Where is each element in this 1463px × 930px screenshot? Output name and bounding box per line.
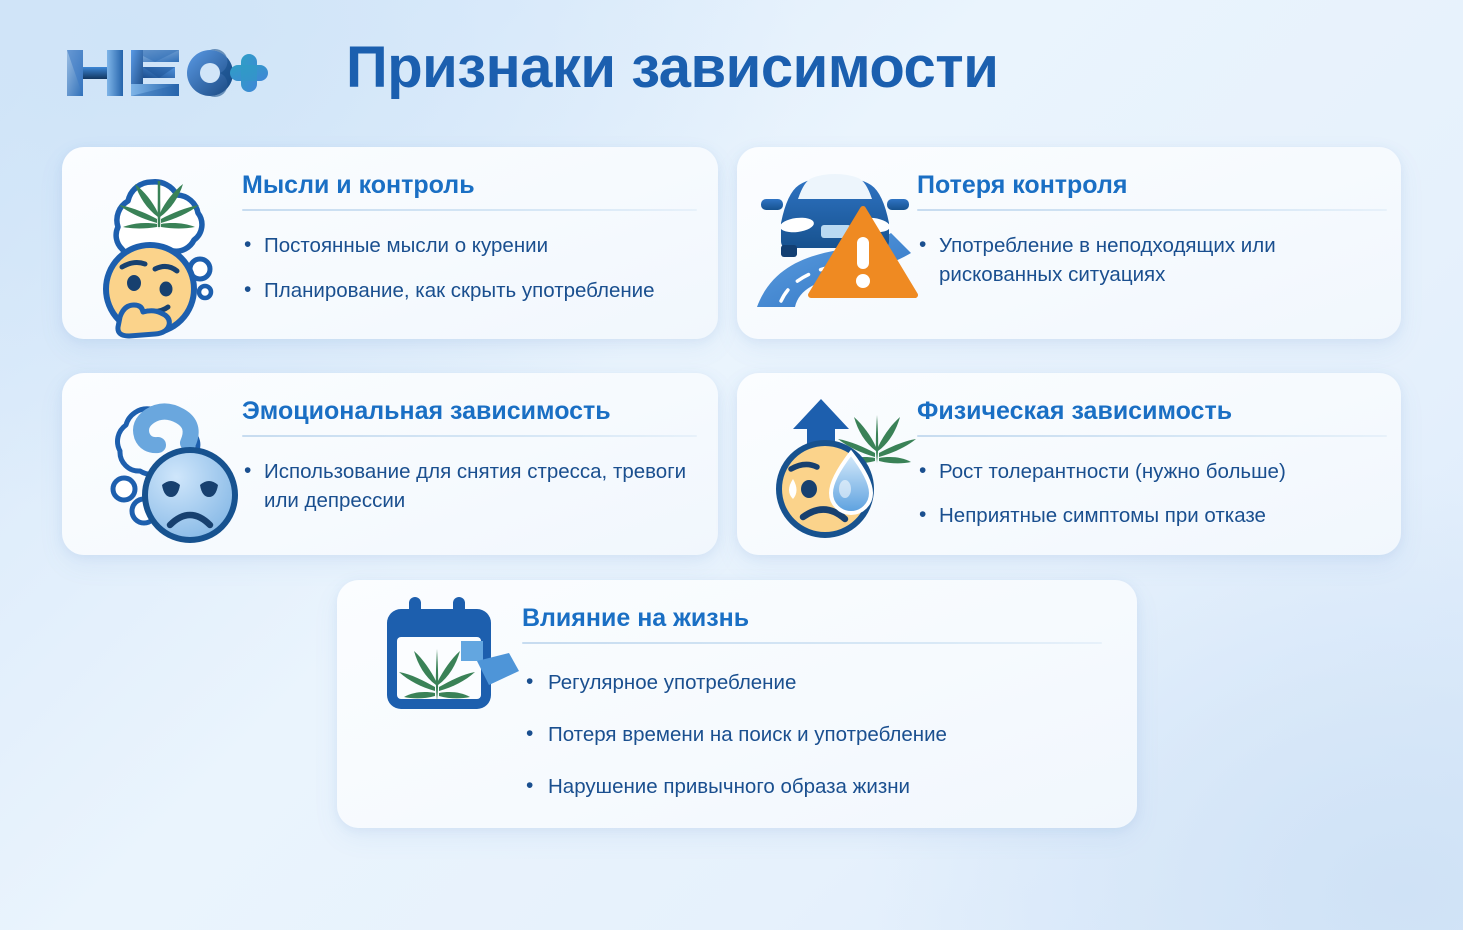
heading-divider (522, 642, 1102, 644)
bullet-list: Постоянные мысли о курении Планирование,… (242, 231, 697, 305)
card-heading: Эмоциональная зависимость (242, 397, 697, 426)
list-item: Планирование, как скрыть употребление (242, 276, 697, 305)
list-item: Рост толерантности (нужно больше) (917, 457, 1387, 486)
card-thoughts-body: Мысли и контроль Постоянные мысли о куре… (242, 171, 697, 305)
car-road-warning-triangle-icon (751, 161, 919, 311)
card-thoughts-and-control: Мысли и контроль Постоянные мысли о куре… (62, 147, 718, 339)
card-life-body: Влияние на жизнь Регулярное употребление… (522, 604, 1102, 801)
bullet-list: Использование для снятия стресса, тревог… (242, 457, 697, 515)
card-physical-dependence: Физическая зависимость Рост толерантност… (737, 373, 1401, 555)
card-control-body: Потеря контроля Употребление в неподходя… (917, 171, 1387, 289)
card-heading: Физическая зависимость (917, 397, 1387, 426)
heading-divider (917, 435, 1387, 437)
thinking-face-cannabis-thought-cloud-icon (84, 165, 236, 339)
list-item: Регулярное употребление (522, 668, 1102, 697)
card-emotional-body: Эмоциональная зависимость Использование … (242, 397, 697, 515)
bullet-list: Регулярное употребление Потеря времени н… (522, 668, 1102, 801)
list-item: Неприятные симптомы при отказе (917, 501, 1387, 530)
list-item: Использование для снятия стресса, тревог… (242, 457, 697, 515)
list-item: Употребление в неподходящих или рискован… (917, 231, 1387, 289)
heading-divider (242, 435, 697, 437)
heading-divider (917, 209, 1387, 211)
card-heading: Мысли и контроль (242, 171, 697, 200)
sad-blue-face-thought-cloud-icon (102, 385, 252, 543)
list-item: Нарушение привычного образа жизни (522, 772, 1102, 801)
card-physical-body: Физическая зависимость Рост толерантност… (917, 397, 1387, 530)
header: Признаки зависимости (0, 36, 1463, 116)
anxious-face-sweat-arrow-cannabis-icon (763, 381, 923, 543)
card-emotional-dependence: Эмоциональная зависимость Использование … (62, 373, 718, 555)
neo-plus-logo (63, 42, 288, 104)
bullet-list: Рост толерантности (нужно больше) Неприя… (917, 457, 1387, 530)
card-heading: Потеря контроля (917, 171, 1387, 200)
card-impact-on-life: Влияние на жизнь Регулярное употребление… (337, 580, 1137, 828)
card-loss-of-control: Потеря контроля Употребление в неподходя… (737, 147, 1401, 339)
heading-divider (242, 209, 697, 211)
list-item: Потеря времени на поиск и употребление (522, 720, 1102, 749)
calendar-cannabis-leaf-icon (375, 595, 523, 715)
list-item: Постоянные мысли о курении (242, 231, 697, 260)
infographic-root: Признаки зависимости (0, 0, 1463, 930)
page-title: Признаки зависимости (346, 34, 998, 101)
card-heading: Влияние на жизнь (522, 604, 1102, 633)
bullet-list: Употребление в неподходящих или рискован… (917, 231, 1387, 289)
